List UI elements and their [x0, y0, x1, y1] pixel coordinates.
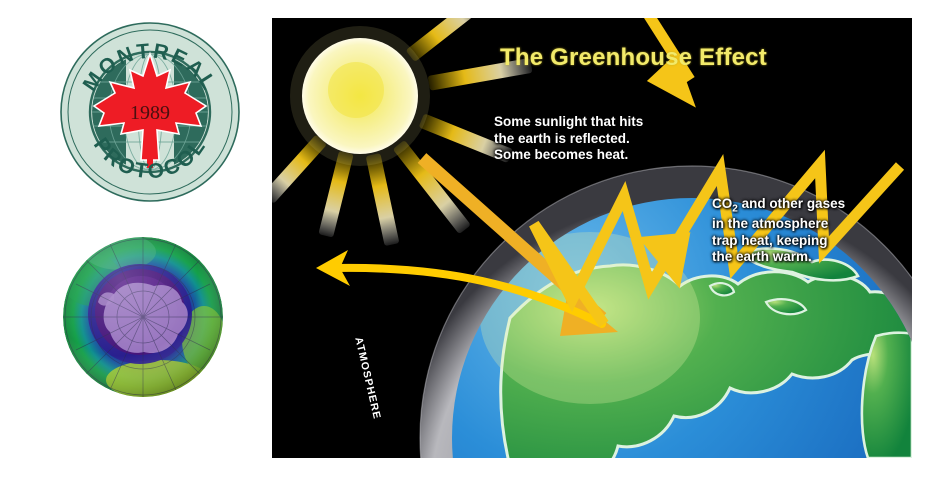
ozone-hole-svg	[58, 232, 228, 402]
ozone-hole-map	[58, 232, 228, 402]
logo-year: 1989	[130, 102, 170, 124]
page-title: The Greenhouse Effect	[500, 44, 767, 72]
left-image-column: 1989 MONTREAL PROTOCOL	[0, 0, 262, 480]
caption-sunlight: Some sunlight that hits the earth is ref…	[494, 114, 643, 164]
montreal-protocol-svg: 1989 MONTREAL PROTOCOL	[58, 20, 242, 204]
caption-co2: CO2 and other gases in the atmosphere tr…	[712, 196, 845, 266]
caption-co2-prefix: CO	[712, 196, 732, 211]
montreal-protocol-logo: 1989 MONTREAL PROTOCOL	[58, 20, 242, 204]
greenhouse-effect-panel: The Greenhouse Effect Some sunlight that…	[272, 18, 912, 458]
